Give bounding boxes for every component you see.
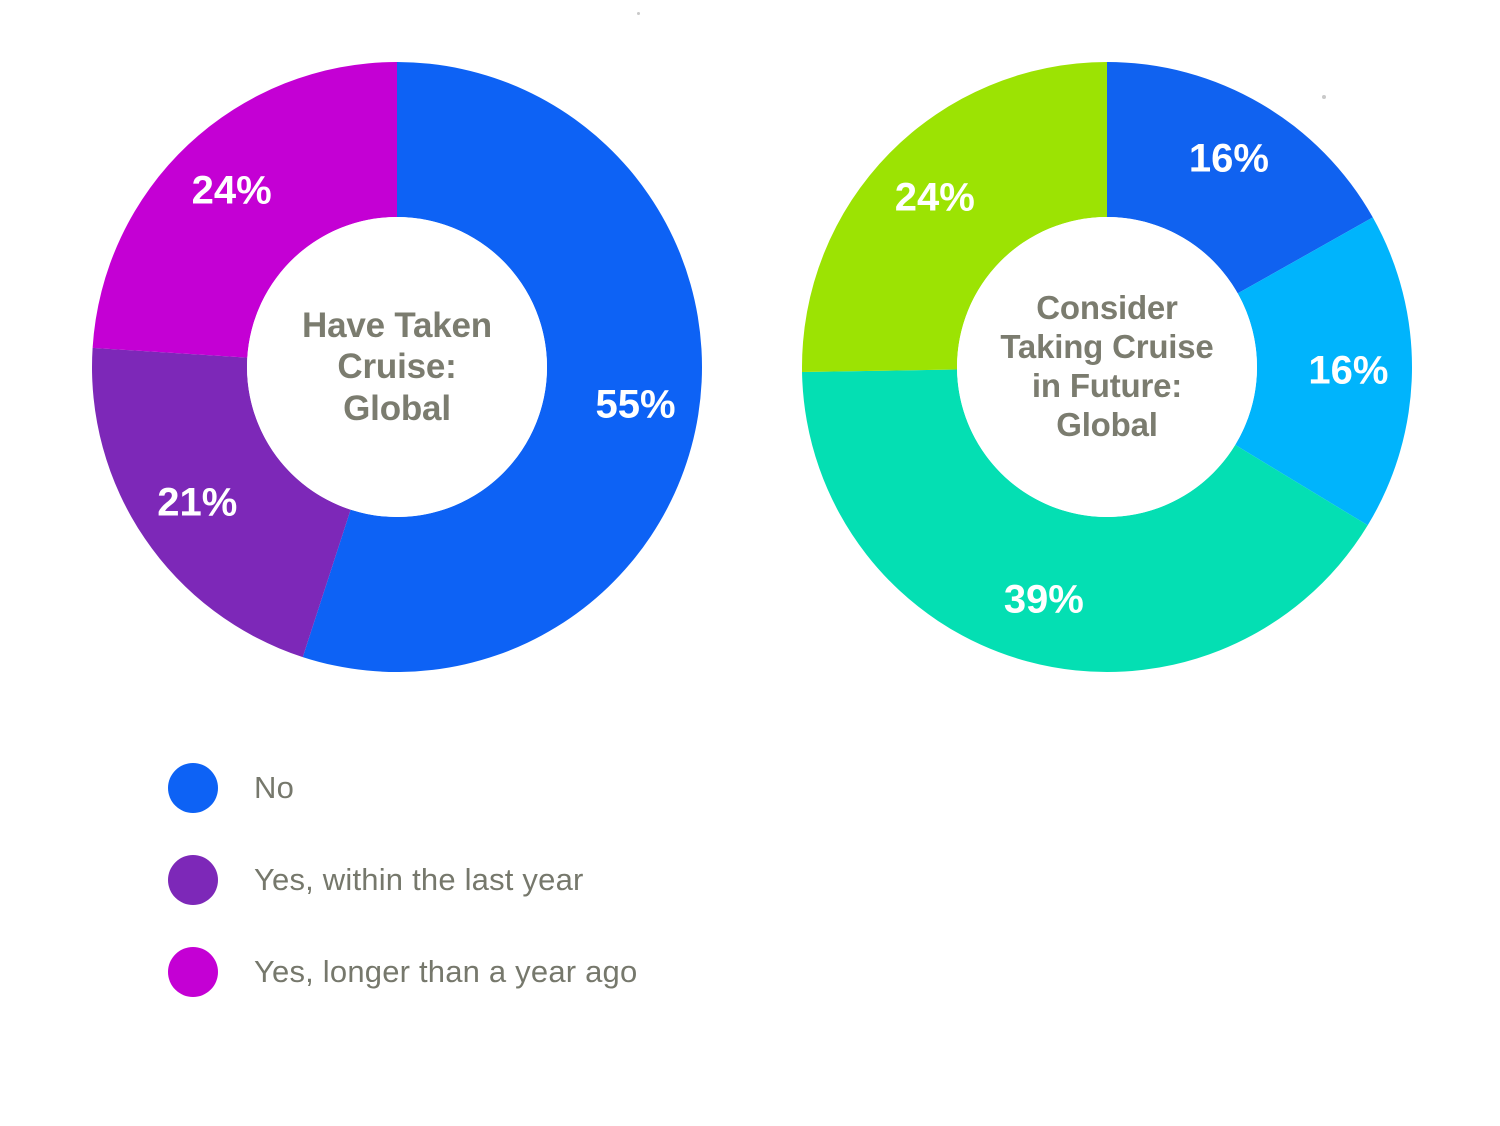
- legend-item[interactable]: Yes, longer than a year ago: [168, 926, 637, 1018]
- legend-have-taken-cruise: No Yes, within the last year Yes, longer…: [168, 742, 637, 1018]
- donut-center-title-2: Consider Taking Cruise in Future: Global: [990, 289, 1223, 445]
- legend-item[interactable]: Yes, within the last year: [168, 834, 637, 926]
- legend-swatch-icon: [168, 763, 218, 813]
- legend-item[interactable]: No: [168, 742, 637, 834]
- donut-chart-have-taken-cruise: Have Taken Cruise: Global 55% 21% 24%: [90, 60, 704, 674]
- chart-panel-have-taken-cruise: Have Taken Cruise: Global 55% 21% 24% No…: [0, 0, 750, 1126]
- legend-label: Yes, longer than a year ago: [254, 954, 637, 990]
- legend-label: No: [254, 770, 294, 806]
- chart-panel-consider-taking-cruise: Consider Taking Cruise in Future: Global…: [750, 0, 1500, 1126]
- donut-center-label-2: Consider Taking Cruise in Future: Global: [957, 217, 1257, 517]
- donut-chart-consider-taking-cruise: Consider Taking Cruise in Future: Global…: [800, 60, 1414, 674]
- scan-speck: [1322, 95, 1326, 99]
- donut-center-label-1: Have Taken Cruise: Global: [247, 217, 547, 517]
- legend-label: Yes, within the last year: [254, 862, 584, 898]
- legend-swatch-icon: [168, 947, 218, 997]
- donut-center-title-1: Have Taken Cruise: Global: [292, 305, 502, 429]
- chart-page: Have Taken Cruise: Global 55% 21% 24% No…: [0, 0, 1500, 1126]
- scan-speck: [637, 12, 640, 15]
- legend-swatch-icon: [168, 855, 218, 905]
